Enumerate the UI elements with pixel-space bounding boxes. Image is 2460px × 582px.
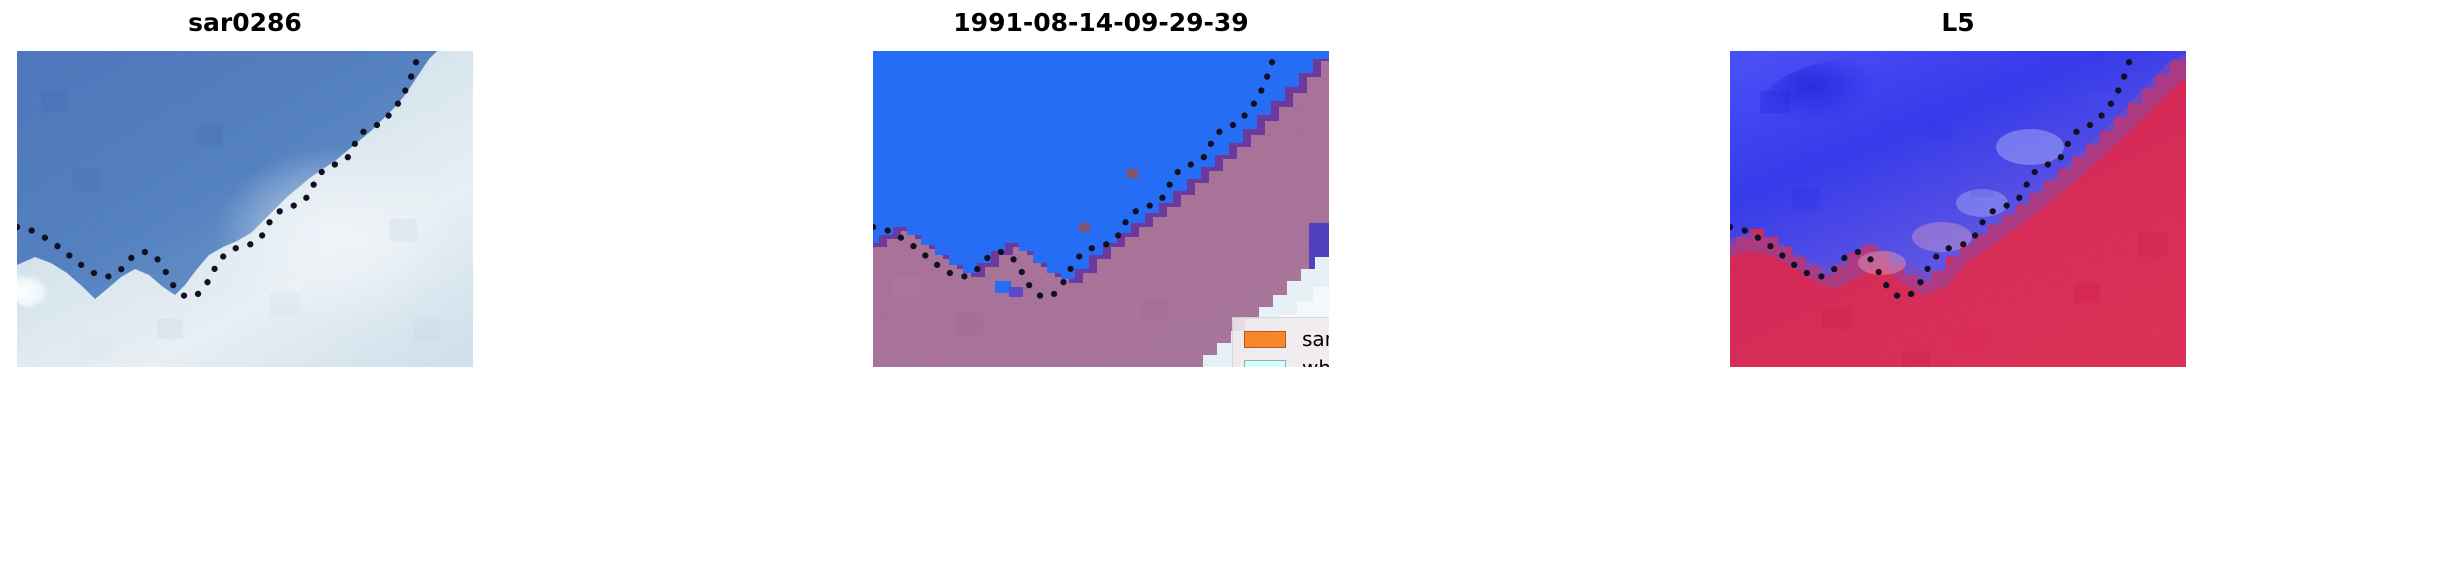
panel-l5[interactable] [1730,51,2186,367]
figure-canvas: sar0286 [0,0,2460,582]
legend-item-whitewater: whitewater [1242,354,1329,367]
panel-title-sar: sar0286 [17,8,473,38]
panel-classified[interactable]: sand whitewater water shoreline [873,51,1329,367]
panel-sar0286[interactable] [17,51,473,367]
sar-image [17,51,473,367]
panel-title-l5: L5 [1730,8,2186,38]
panel-title-classified: 1991-08-14-09-29-39 [873,8,1329,38]
sand-swatch [1242,325,1288,354]
legend: sand whitewater water shoreline [1232,317,1329,367]
legend-label-sand: sand [1288,325,1329,354]
l5-image [1730,51,2186,367]
legend-item-sand: sand [1242,325,1329,354]
whitewater-swatch [1242,354,1288,367]
legend-label-whitewater: whitewater [1288,354,1329,367]
